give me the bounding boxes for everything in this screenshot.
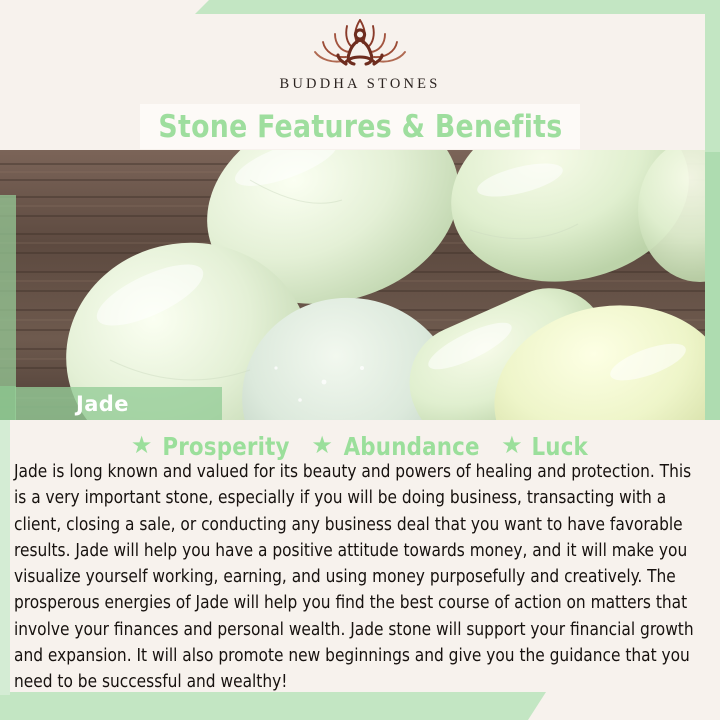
- photo-illustration: [0, 150, 720, 420]
- keyword-label: Abundance: [344, 432, 480, 461]
- stone-info-card: BUDDHA STONES Stone Features & Benefits: [0, 0, 720, 720]
- decorative-top-band: [195, 0, 720, 14]
- star-icon: ★: [131, 434, 153, 458]
- jade-tumbled-stones-photo: [0, 150, 720, 420]
- stone-name-label: Jade: [76, 392, 129, 416]
- title-banner: Stone Features & Benefits: [140, 104, 580, 149]
- keyword-item-abundance: ★ Abundance: [311, 432, 483, 461]
- keyword-item-prosperity: ★ Prosperity: [131, 432, 294, 461]
- keyword-label: Prosperity: [163, 432, 290, 461]
- brand-name: BUDDHA STONES: [280, 76, 441, 93]
- decorative-left-lower-band: [0, 386, 16, 420]
- stone-description: Jade is long known and valued for its be…: [14, 459, 696, 696]
- lotus-meditation-icon: [285, 14, 435, 74]
- brand-logo: BUDDHA STONES: [0, 14, 720, 106]
- keyword-label: Luck: [531, 432, 587, 461]
- page-title: Stone Features & Benefits: [158, 109, 562, 145]
- keyword-item-luck: ★ Luck: [501, 432, 589, 461]
- star-icon: ★: [501, 434, 523, 458]
- decorative-bottom-band: [0, 692, 546, 720]
- star-icon: ★: [311, 434, 333, 458]
- keyword-list: ★ Prosperity ★ Abundance ★ Luck: [0, 430, 720, 462]
- stone-name-badge: Jade: [15, 387, 222, 420]
